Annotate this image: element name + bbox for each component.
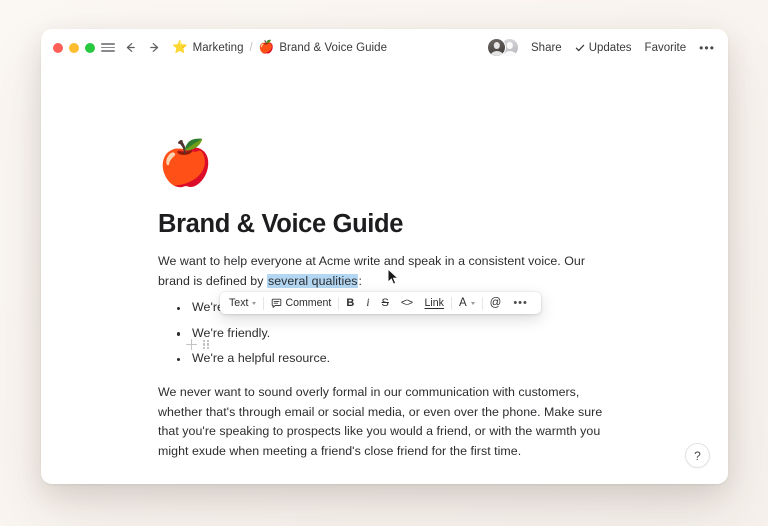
arrow-left-icon[interactable]	[124, 41, 137, 54]
desktop-background: ⭐ Marketing / 🍎 Brand & Voice Guide Shar…	[0, 0, 768, 526]
list-item[interactable]: We're a helpful resource.	[158, 349, 610, 369]
avatar[interactable]	[487, 38, 506, 57]
block-handles	[186, 339, 209, 350]
arrow-right-icon[interactable]	[148, 41, 161, 54]
text-selection-highlight[interactable]: several qualities	[267, 274, 359, 288]
link-button[interactable]: Link	[419, 292, 450, 314]
zoom-button[interactable]	[85, 43, 95, 53]
star-icon[interactable]: ⭐	[172, 41, 188, 54]
code-button[interactable]: <>	[395, 292, 419, 314]
apple-icon[interactable]: 🍎	[259, 41, 275, 54]
minimize-button[interactable]	[69, 43, 79, 53]
formatting-toolbar: Text Comment B i S <	[220, 292, 541, 314]
breadcrumb-current[interactable]: Brand & Voice Guide	[279, 42, 387, 54]
help-button[interactable]: ?	[685, 443, 710, 468]
paragraph-tone[interactable]: We never want to sound overly formal in …	[158, 383, 610, 461]
close-button[interactable]	[53, 43, 63, 53]
breadcrumb-parent[interactable]: Marketing	[193, 42, 244, 54]
paragraph-intro-text-after: :	[358, 274, 361, 288]
hamburger-menu-icon[interactable]	[101, 41, 115, 55]
add-block-icon[interactable]	[186, 339, 197, 350]
drag-handle-icon[interactable]	[203, 340, 209, 350]
list-item[interactable]: We're friendly.	[158, 324, 610, 344]
comment-button[interactable]: Comment	[265, 292, 337, 314]
toolbar-more-icon[interactable]: •••	[507, 292, 534, 314]
updates-button[interactable]: Updates	[575, 42, 632, 54]
strikethrough-button[interactable]: S	[376, 292, 395, 314]
text-color-dropdown[interactable]: A	[453, 292, 481, 314]
traffic-lights	[53, 43, 95, 53]
more-options-icon[interactable]: •••	[699, 42, 715, 54]
favorite-button[interactable]: Favorite	[645, 42, 687, 54]
breadcrumb: ⭐ Marketing / 🍎 Brand & Voice Guide	[172, 41, 387, 54]
mention-button[interactable]: @	[484, 292, 508, 314]
toolbar-divider	[451, 297, 452, 310]
toolbar-divider	[263, 297, 264, 310]
bold-button[interactable]: B	[340, 292, 360, 314]
navigation-arrows	[124, 41, 161, 54]
page-title[interactable]: Brand & Voice Guide	[158, 210, 610, 239]
titlebar-actions: Share Updates Favorite •••	[487, 38, 715, 57]
paragraph-intro[interactable]: We want to help everyone at Acme write a…	[158, 252, 610, 291]
paragraph-intro-text-before: We want to help everyone at Acme write a…	[158, 254, 585, 288]
collaborator-avatars[interactable]	[487, 38, 519, 57]
document-canvas: 🍎 Brand & Voice Guide We want to help ev…	[41, 66, 728, 484]
text-style-dropdown[interactable]: Text	[227, 292, 262, 314]
toolbar-divider	[338, 297, 339, 310]
chevron-down-icon	[252, 302, 256, 305]
italic-button[interactable]: i	[360, 292, 375, 314]
chevron-down-icon	[471, 302, 475, 305]
app-window: ⭐ Marketing / 🍎 Brand & Voice Guide Shar…	[41, 29, 728, 484]
document-icon[interactable]: 🍎	[158, 142, 610, 186]
window-titlebar: ⭐ Marketing / 🍎 Brand & Voice Guide Shar…	[41, 29, 728, 66]
checkmark-icon	[575, 43, 585, 53]
share-button[interactable]: Share	[531, 42, 562, 54]
comment-bubble-icon	[271, 298, 282, 309]
toolbar-divider	[482, 297, 483, 310]
breadcrumb-separator: /	[250, 42, 253, 54]
